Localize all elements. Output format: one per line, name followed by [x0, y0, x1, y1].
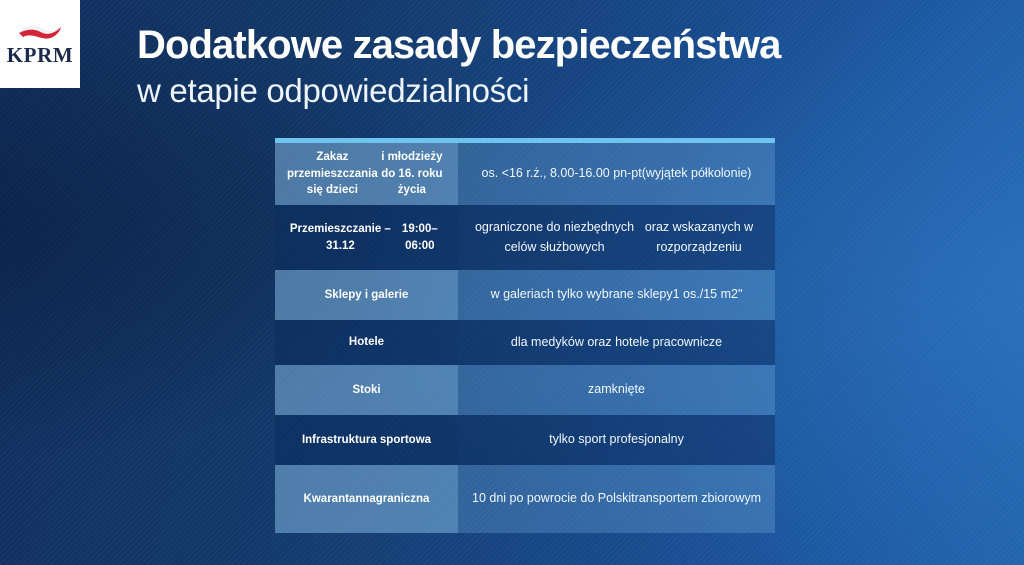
rule-label: Stoki	[275, 365, 458, 415]
rule-label-line: Hotele	[349, 334, 384, 351]
rule-value: w galeriach tylko wybrane sklepy1 os./15…	[458, 270, 775, 320]
page-title: Dodatkowe zasady bezpieczeństwa	[137, 24, 780, 67]
rule-label-line: Zakaz przemieszczania się dzieci	[287, 149, 378, 199]
rule-value: zamknięte	[458, 365, 775, 415]
page-title-block: Dodatkowe zasady bezpieczeństwa w etapie…	[137, 24, 780, 109]
rules-table: Zakaz przemieszczania się dziecii młodzi…	[275, 138, 775, 533]
rule-label-line: 19:00–06:00	[394, 221, 446, 254]
rule-label-line: Kwarantanna	[304, 491, 376, 508]
rule-value-line: 10 dni po powrocie do Polski	[472, 489, 631, 508]
rule-label: Kwarantannagraniczna	[275, 465, 458, 533]
table-row: Stoki zamknięte	[275, 365, 775, 415]
rule-value: os. <16 r.ż., 8.00-16.00 pn-pt(wyjątek p…	[458, 143, 775, 205]
table-row: Infrastruktura sportowa tylko sport prof…	[275, 415, 775, 465]
rule-label: Zakaz przemieszczania się dziecii młodzi…	[275, 143, 458, 205]
rule-value-line: w galeriach tylko wybrane sklepy	[491, 285, 673, 304]
rule-label-line: Przemieszczanie – 31.12	[287, 221, 394, 254]
rule-value-line: 1 os./15 m2"	[673, 285, 743, 304]
rule-value-line: dla medyków oraz hotele pracownicze	[511, 333, 722, 352]
polish-flag-emblem-icon	[17, 22, 63, 44]
rule-value-line: oraz wskazanych w rozporządzeniu	[637, 218, 761, 257]
rule-value-line: zamknięte	[588, 380, 645, 399]
rule-value: tylko sport profesjonalny	[458, 415, 775, 465]
rule-value-line: os. <16 r.ż., 8.00-16.00 pn-pt	[482, 164, 642, 183]
rule-value-line: transportem zbiorowym	[631, 489, 761, 508]
slide-canvas: KPRM Dodatkowe zasady bezpieczeństwa w e…	[0, 0, 1024, 565]
table-row: Przemieszczanie – 31.1219:00–06:00 ogran…	[275, 205, 775, 270]
rule-label-line: graniczna	[376, 491, 430, 508]
rule-label: Sklepy i galerie	[275, 270, 458, 320]
rule-value: ograniczone do niezbędnych celów służbow…	[458, 205, 775, 270]
rule-value-line: ograniczone do niezbędnych celów służbow…	[472, 218, 637, 257]
rule-label: Infrastruktura sportowa	[275, 415, 458, 465]
kprm-logo: KPRM	[0, 0, 80, 88]
rule-label-line: i młodzieży do 16. roku życia	[378, 149, 446, 199]
rule-label: Przemieszczanie – 31.1219:00–06:00	[275, 205, 458, 270]
table-row: Sklepy i galerie w galeriach tylko wybra…	[275, 270, 775, 320]
table-row: Hotele dla medyków oraz hotele pracownic…	[275, 320, 775, 365]
rule-label: Hotele	[275, 320, 458, 365]
kprm-logo-text: KPRM	[7, 45, 74, 66]
rule-value-line: tylko sport profesjonalny	[549, 430, 684, 449]
rule-value: dla medyków oraz hotele pracownicze	[458, 320, 775, 365]
rule-label-line: Sklepy i galerie	[325, 287, 409, 304]
rule-value-line: (wyjątek półkolonie)	[642, 164, 752, 183]
table-row: Zakaz przemieszczania się dziecii młodzi…	[275, 143, 775, 205]
table-row: Kwarantannagraniczna 10 dni po powrocie …	[275, 465, 775, 533]
page-subtitle: w etapie odpowiedzialności	[137, 73, 780, 109]
rule-value: 10 dni po powrocie do Polskitransportem …	[458, 465, 775, 533]
rule-label-line: Infrastruktura sportowa	[302, 432, 431, 449]
rule-label-line: Stoki	[352, 382, 380, 399]
